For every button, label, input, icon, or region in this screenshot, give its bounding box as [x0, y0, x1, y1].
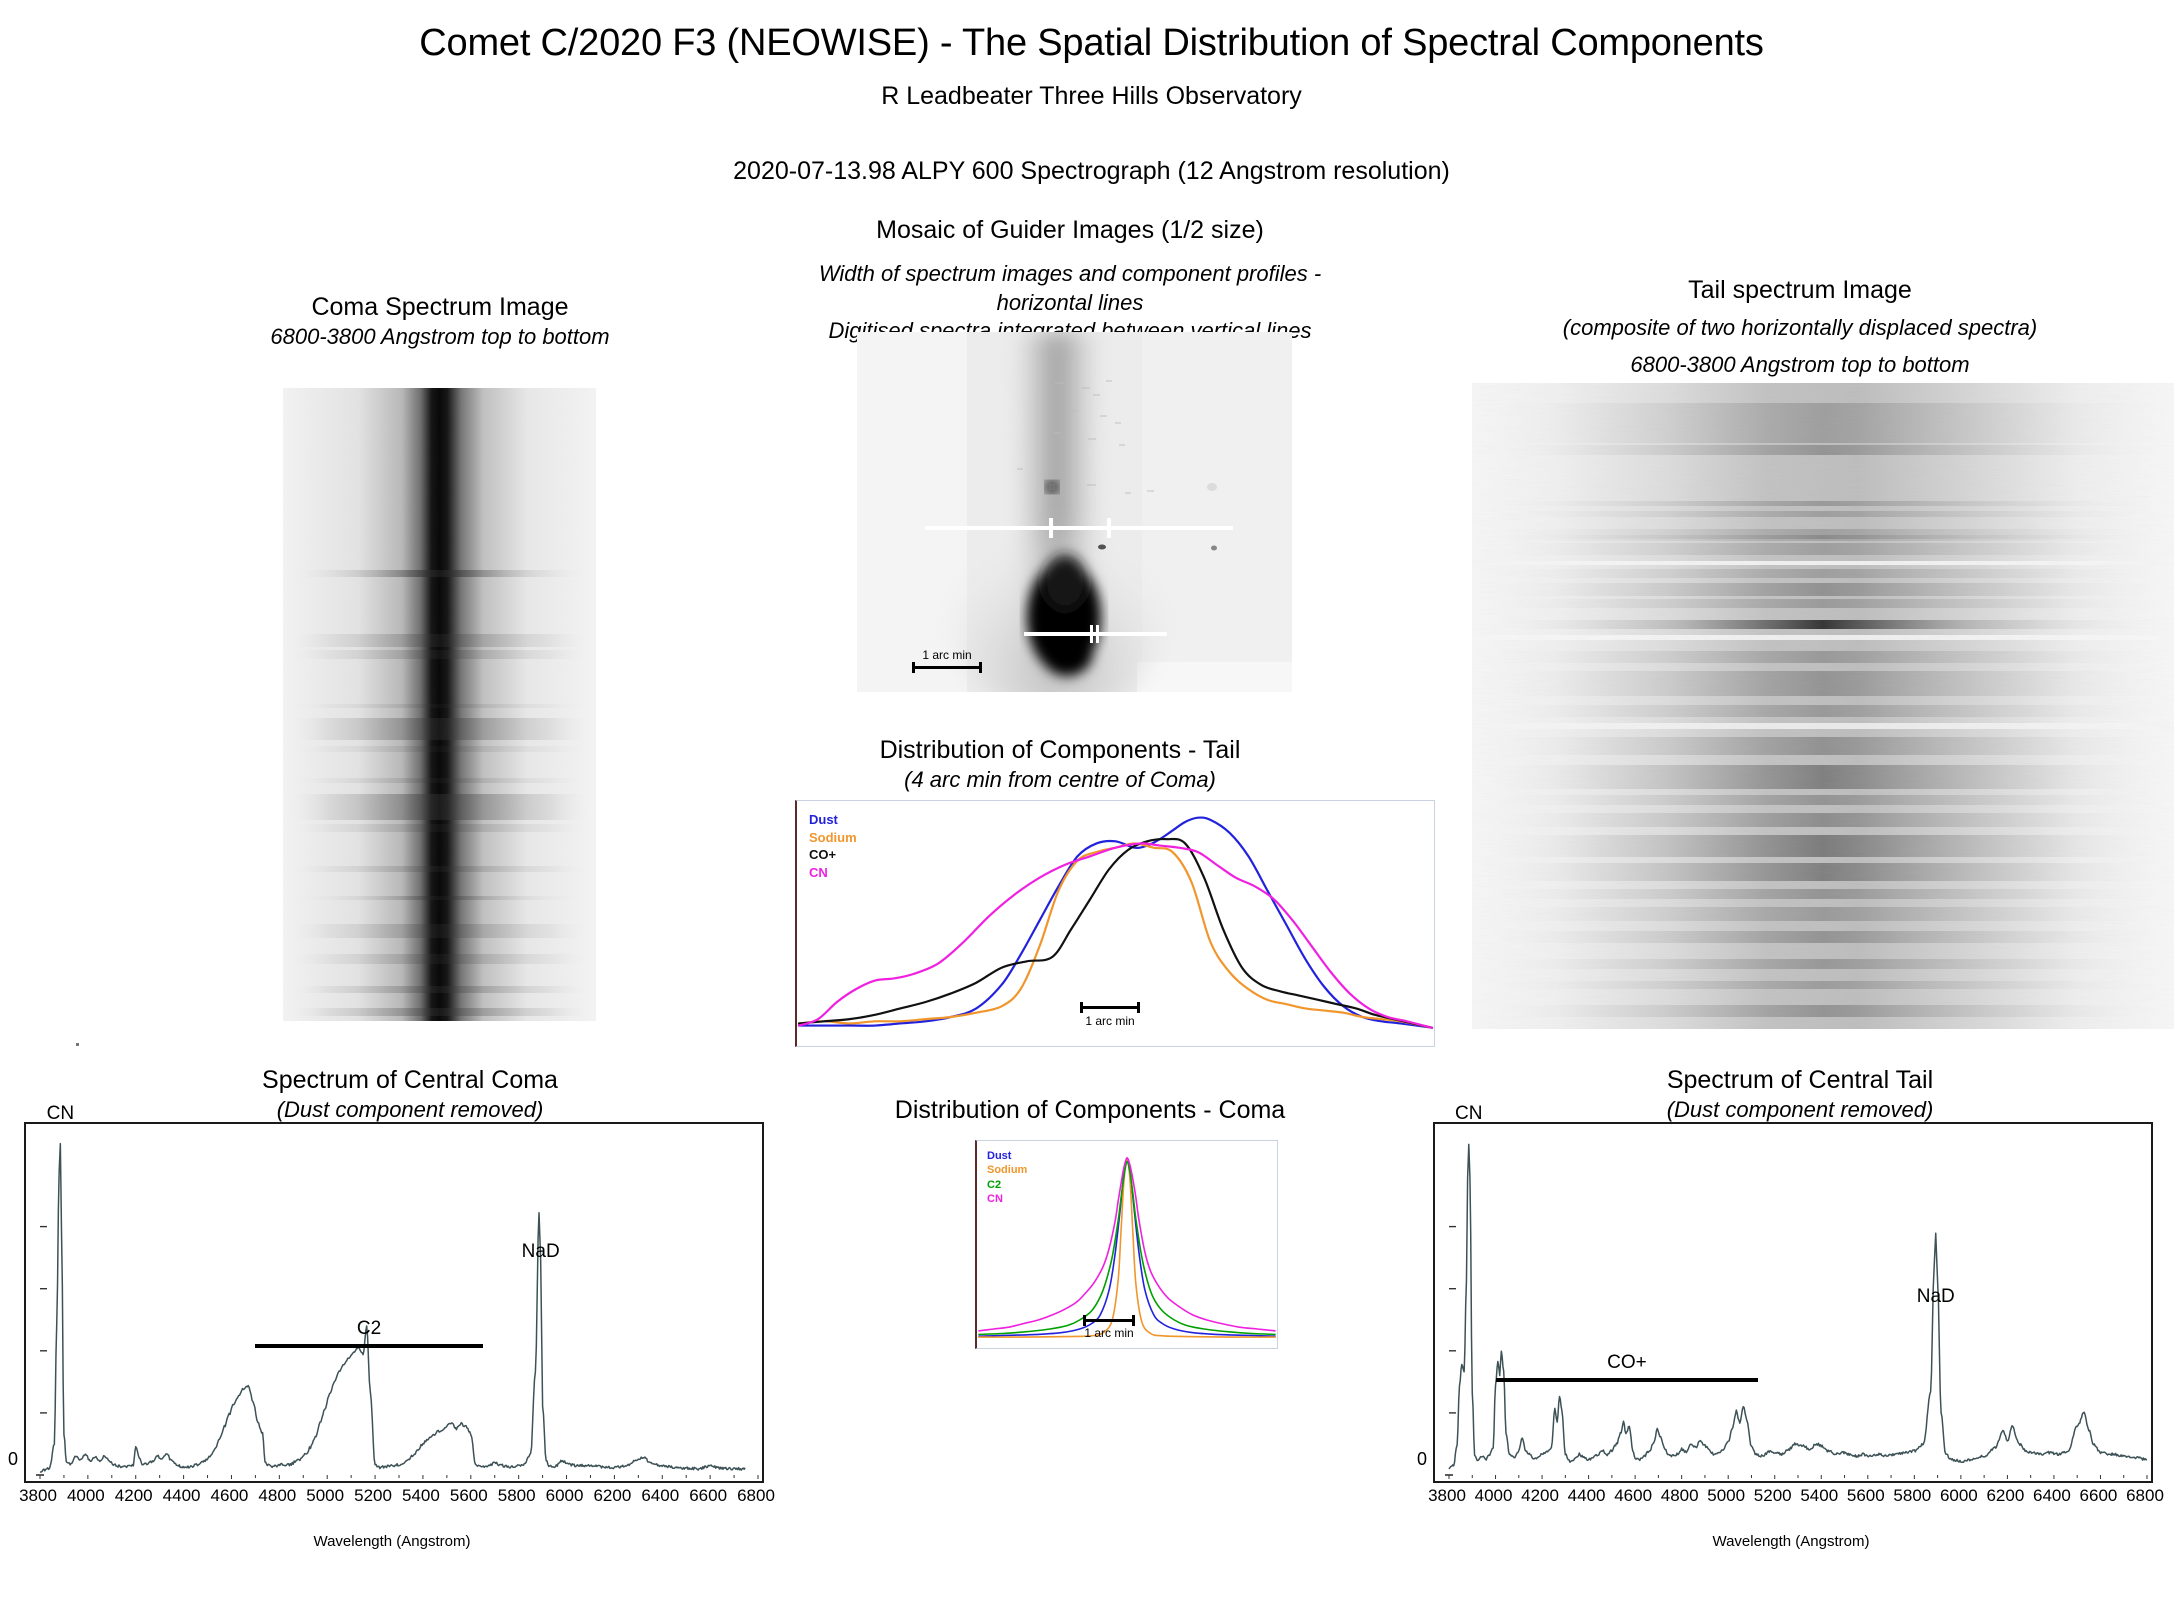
x-tick-label: 6800: [2126, 1486, 2164, 1506]
x-tick-label: 5600: [1847, 1486, 1885, 1506]
tail-image-heading: Tail spectrum Image (composite of two ho…: [1490, 275, 2110, 379]
x-tick-label: 5200: [1754, 1486, 1792, 1506]
legend-item-dust: Dust: [809, 811, 857, 829]
x-tick-label: 3800: [1428, 1486, 1466, 1506]
species-bracket: [1496, 1378, 1759, 1382]
tail-image-subtitle-1: (composite of two horizontally displaced…: [1490, 314, 2110, 343]
coma-image-subtitle: 6800-3800 Angstrom top to bottom: [140, 323, 740, 352]
tail-spectrum-subtitle: (Dust component removed): [1460, 1096, 2140, 1125]
mosaic-title: Mosaic of Guider Images (1/2 size): [790, 215, 1350, 246]
coma-spectrum-y-zero-label: 0: [8, 1449, 18, 1470]
coma-distribution-title: Distribution of Components - Coma: [880, 1095, 1300, 1126]
coma-spectrum-x-axis-label: Wavelength (Angstrom): [24, 1533, 760, 1550]
coma-spectrum-chart: CNNaDC2: [24, 1122, 764, 1483]
x-tick-label: 6600: [689, 1486, 727, 1506]
x-tick-label: 4000: [67, 1486, 105, 1506]
species-bracket-label: C2: [357, 1318, 381, 1340]
tail-distribution-legend: Dust Sodium CO+ CN: [809, 811, 857, 881]
x-tick-label: 6600: [2080, 1486, 2118, 1506]
coma-spectrum-plot-area: [26, 1124, 762, 1481]
x-tick-label: 5400: [402, 1486, 440, 1506]
coma-spectrum-subtitle: (Dust component removed): [80, 1096, 740, 1125]
tail-image-subtitle-2: 6800-3800 Angstrom top to bottom: [1490, 351, 2110, 380]
x-tick-label: 5800: [1893, 1486, 1931, 1506]
legend-item-cn: CN: [987, 1192, 1027, 1206]
tail-spectrum-heading: Spectrum of Central Tail (Dust component…: [1460, 1065, 2140, 1125]
tail-image-title: Tail spectrum Image: [1490, 275, 2110, 306]
coma-image-heading: Coma Spectrum Image 6800-3800 Angstrom t…: [140, 292, 740, 352]
instrument-line: 2020-07-13.98 ALPY 600 Spectrograph (12 …: [0, 157, 2183, 186]
peak-label-cn: CN: [1455, 1103, 1482, 1125]
peak-label-cn: CN: [47, 1103, 74, 1125]
tail-distribution-heading: Distribution of Components - Tail (4 arc…: [810, 735, 1310, 795]
coma-spectrum-title: Spectrum of Central Coma: [80, 1065, 740, 1096]
x-tick-label: 5400: [1800, 1486, 1838, 1506]
x-tick-label: 5000: [306, 1486, 344, 1506]
x-tick-label: 6800: [737, 1486, 775, 1506]
mosaic-scalebar-label: 1 arc min: [912, 648, 982, 662]
species-bracket-label: CO+: [1607, 1352, 1647, 1374]
x-tick-label: 4600: [1614, 1486, 1652, 1506]
tail-spectrum-y-zero-label: 0: [1417, 1449, 1427, 1470]
coma-spectrum-x-ticks: 3800400042004400460048005000520054005600…: [24, 1486, 760, 1510]
legend-item-sodium: Sodium: [987, 1163, 1027, 1177]
tail-distribution-title: Distribution of Components - Tail: [810, 735, 1310, 766]
coma-distribution-scalebar-label: 1 arc min: [1083, 1326, 1135, 1340]
peak-label-nad: NaD: [522, 1241, 560, 1263]
coma-distribution-heading: Distribution of Components - Coma: [880, 1095, 1300, 1126]
x-tick-label: 6000: [1940, 1486, 1978, 1506]
author-line: R Leadbeater Three Hills Observatory: [0, 82, 2183, 111]
coma-spectrum-strip-image: [283, 388, 596, 1021]
tail-distribution-scalebar: 1 arc min: [1080, 1002, 1140, 1028]
mosaic-subtitle-1: Width of spectrum images and component p…: [790, 260, 1350, 317]
x-tick-label: 6000: [546, 1486, 584, 1506]
x-tick-label: 6400: [641, 1486, 679, 1506]
x-tick-label: 5600: [450, 1486, 488, 1506]
legend-item-cn: CN: [809, 864, 857, 882]
tail-spectrum-x-axis-label: Wavelength (Angstrom): [1433, 1533, 2149, 1550]
legend-item-c2: C2: [987, 1178, 1027, 1192]
coma-image-title: Coma Spectrum Image: [140, 292, 740, 323]
x-tick-label: 6200: [593, 1486, 631, 1506]
x-tick-label: 5800: [498, 1486, 536, 1506]
coma-spectrum-heading: Spectrum of Central Coma (Dust component…: [80, 1065, 740, 1125]
mosaic-scalebar: 1 arc min: [912, 648, 982, 672]
stray-mark: [76, 1043, 79, 1046]
x-tick-label: 4800: [258, 1486, 296, 1506]
guider-mosaic-image: [857, 332, 1292, 692]
tail-spectrum-plot-area: [1435, 1124, 2151, 1481]
tail-spectrum-title: Spectrum of Central Tail: [1460, 1065, 2140, 1096]
mosaic-heading: Mosaic of Guider Images (1/2 size) Width…: [790, 215, 1350, 346]
x-tick-label: 4200: [1521, 1486, 1559, 1506]
tail-spectrum-strip-image: [1472, 383, 2174, 1029]
x-tick-label: 4400: [163, 1486, 201, 1506]
legend-item-sodium: Sodium: [809, 829, 857, 847]
x-tick-label: 6200: [1986, 1486, 2024, 1506]
tail-spectrum-x-ticks: 3800400042004400460048005000520054005600…: [1433, 1486, 2149, 1510]
legend-item-dust: Dust: [987, 1149, 1027, 1163]
x-tick-label: 3800: [19, 1486, 57, 1506]
coma-distribution-scalebar: 1 arc min: [1083, 1315, 1135, 1340]
x-tick-label: 4600: [211, 1486, 249, 1506]
x-tick-label: 4800: [1661, 1486, 1699, 1506]
x-tick-label: 5200: [354, 1486, 392, 1506]
x-tick-label: 4200: [115, 1486, 153, 1506]
x-tick-label: 5000: [1707, 1486, 1745, 1506]
x-tick-label: 4400: [1568, 1486, 1606, 1506]
tail-distribution-subtitle: (4 arc min from centre of Coma): [810, 766, 1310, 795]
x-tick-label: 4000: [1475, 1486, 1513, 1506]
x-tick-label: 6400: [2033, 1486, 2071, 1506]
peak-label-nad: NaD: [1917, 1286, 1955, 1308]
tail-distribution-scalebar-label: 1 arc min: [1080, 1014, 1140, 1028]
species-bracket: [255, 1344, 482, 1348]
coma-distribution-legend: Dust Sodium C2 CN: [987, 1149, 1027, 1206]
page-title: Comet C/2020 F3 (NEOWISE) - The Spatial …: [0, 22, 2183, 65]
tail-spectrum-chart: CNNaDCO+: [1433, 1122, 2153, 1483]
legend-item-co-plus: CO+: [809, 846, 857, 864]
